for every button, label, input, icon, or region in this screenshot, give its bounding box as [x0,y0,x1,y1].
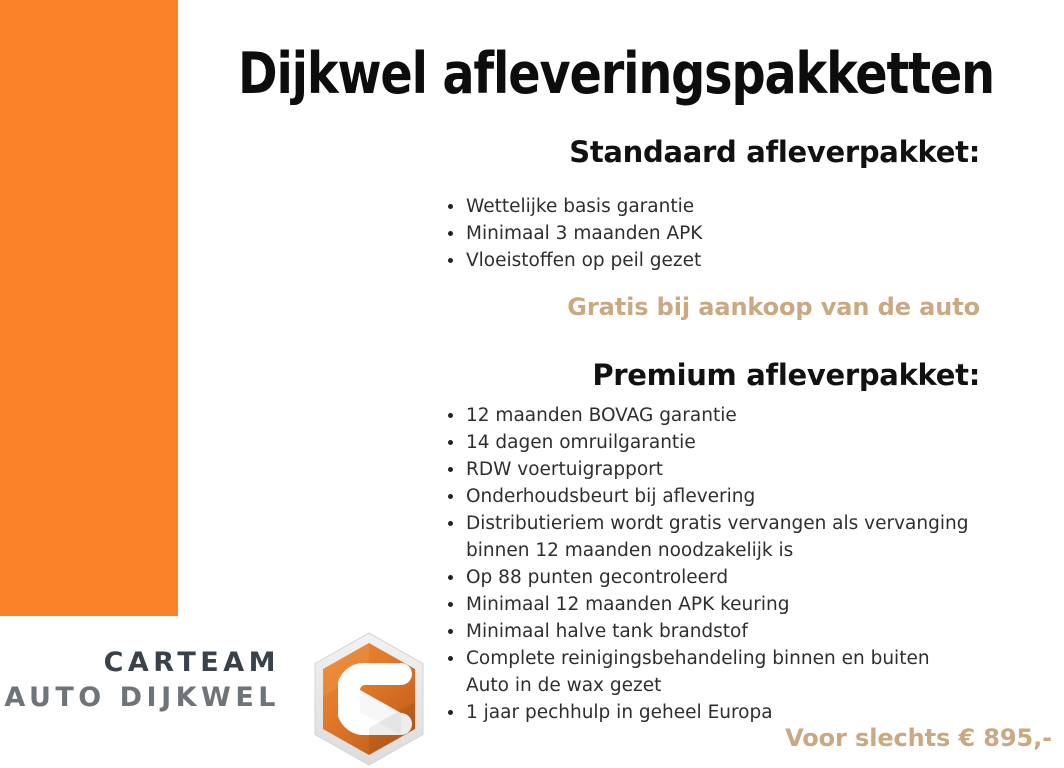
list-item-label: 1 jaar pechhulp in geheel Europa [466,702,773,723]
bullet-dot-icon [448,467,453,472]
bullet-dot-icon [448,710,453,715]
list-item-label: Vloeistoffen op peil gezet [466,250,701,271]
standard-package-price-note: Gratis bij aankoop van de auto [567,292,980,322]
brand-wordmark-line-2: AUTO DIJKWEL [0,680,280,716]
list-item-label: Minimaal 3 maanden APK [466,223,702,244]
list-item: Minimaal 12 maanden APK keuring [448,591,968,618]
list-item: Vloeistoffen op peil gezet [448,247,702,274]
brand-wordmark-line-1: CARTEAM [0,646,280,680]
bullet-dot-icon [448,258,453,263]
bullet-dot-icon [448,656,453,661]
list-item: Minimaal 3 maanden APK [448,220,702,247]
bullet-dot-icon [448,602,453,607]
premium-package-heading: Premium afleverpakket: [592,358,980,392]
page-title: Dijkwel afleveringspakketten [209,44,1024,104]
bullet-dot-icon [448,204,453,209]
poster-canvas: Dijkwel afleveringspakketten Standaard a… [0,0,1064,768]
bullet-dot-icon [448,521,453,526]
standard-package-heading: Standaard afleverpakket: [569,135,980,169]
bullet-dot-icon [448,494,453,499]
list-item-label: Minimaal 12 maanden APK keuring [466,594,789,615]
list-item-label: RDW voertuigrapport [466,459,663,480]
list-item: 1 jaar pechhulp in geheel Europa [448,699,968,726]
list-item-label: Complete reinigingsbehandeling binnen en… [466,648,930,669]
list-item-continuation: binnen 12 maanden noodzakelijk is [466,537,968,564]
bullet-dot-icon [448,440,453,445]
list-item-label: Wettelijke basis garantie [466,196,694,217]
premium-package-price: Voor slechts € 895,- [785,723,1052,753]
list-item-label: Op 88 punten gecontroleerd [466,567,728,588]
bullet-dot-icon [448,231,453,236]
list-item: Onderhoudsbeurt bij aflevering [448,483,968,510]
list-item: 14 dagen omruilgarantie [448,429,968,456]
orange-accent-bar [0,0,178,616]
list-item-label: Distributieriem wordt gratis vervangen a… [466,513,968,534]
list-item: 12 maanden BOVAG garantie [448,402,968,429]
brand-wordmark: CARTEAM AUTO DIJKWEL [0,646,280,716]
list-item: Distributieriem wordt gratis vervangen a… [448,510,968,564]
carteam-hexagon-c-logo-icon [305,630,433,768]
list-item: RDW voertuigrapport [448,456,968,483]
list-item-label: Onderhoudsbeurt bij aflevering [466,486,755,507]
brand-logo-block: CARTEAM AUTO DIJKWEL [0,630,440,768]
bullet-dot-icon [448,575,453,580]
list-item: Op 88 punten gecontroleerd [448,564,968,591]
list-item-label: Minimaal halve tank brandstof [466,621,748,642]
list-item: Wettelijke basis garantie [448,193,702,220]
list-item-label: 12 maanden BOVAG garantie [466,405,737,426]
bullet-dot-icon [448,413,453,418]
list-item-label: 14 dagen omruilgarantie [466,432,696,453]
list-item: Complete reinigingsbehandeling binnen en… [448,645,968,699]
standard-package-list: Wettelijke basis garantie Minimaal 3 maa… [448,193,702,274]
list-item: Minimaal halve tank brandstof [448,618,968,645]
bullet-dot-icon [448,629,453,634]
list-item-continuation: Auto in de wax gezet [466,672,968,699]
premium-package-list: 12 maanden BOVAG garantie 14 dagen omrui… [448,402,968,726]
